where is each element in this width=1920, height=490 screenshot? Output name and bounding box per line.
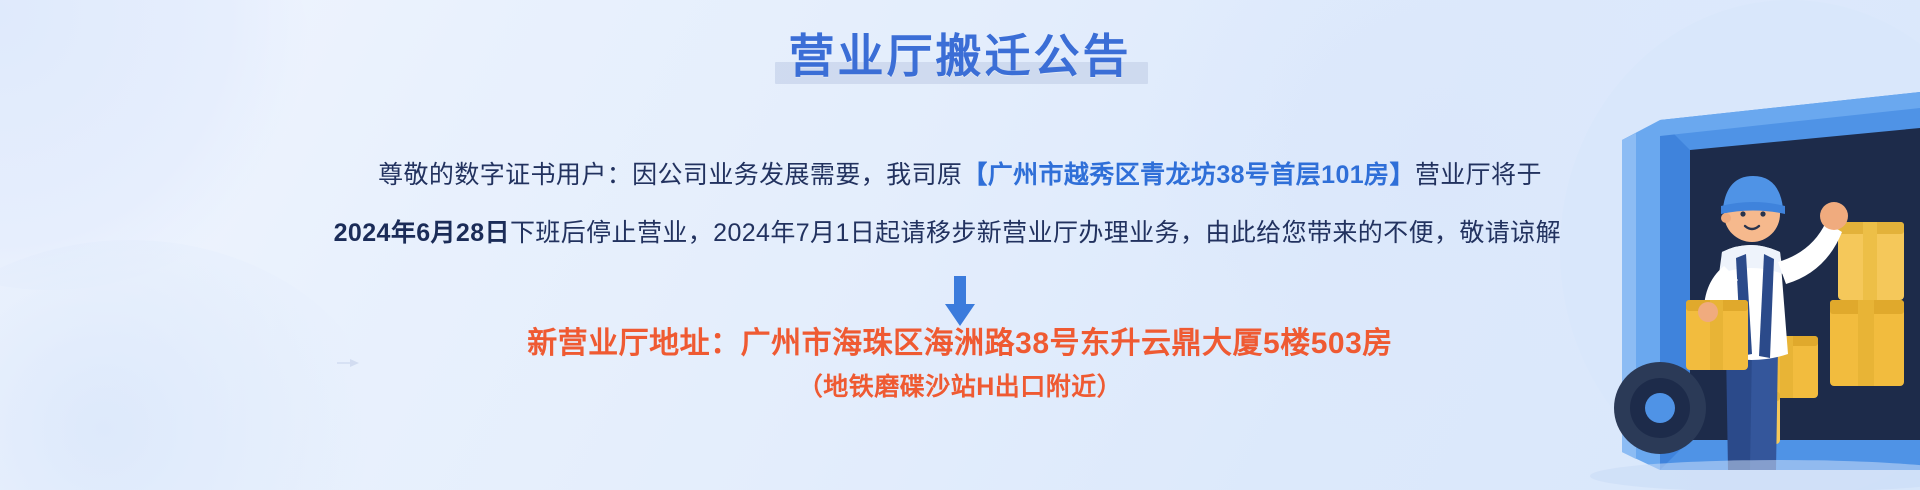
title-area: 营业厅搬迁公告 — [0, 26, 1920, 86]
notice-line-1: 尊敬的数字证书用户：因公司业务发展需要，我司原【广州市越秀区青龙坊38号首层10… — [0, 150, 1920, 200]
closing-date: 2024年6月28日 — [334, 219, 510, 247]
notice-line-1-before: 尊敬的数字证书用户：因公司业务发展需要，我司原 — [378, 161, 962, 189]
old-address-highlight: 【广州市越秀区青龙坊38号首层101房】 — [962, 161, 1415, 189]
notice-body: 尊敬的数字证书用户：因公司业务发展需要，我司原【广州市越秀区青龙坊38号首层10… — [0, 150, 1920, 258]
relocation-notice-banner: 营业厅搬迁公告 尊敬的数字证书用户：因公司业务发展需要，我司原【广州市越秀区青龙… — [0, 0, 1920, 490]
page-title: 营业厅搬迁公告 — [789, 26, 1132, 86]
new-address-block: 新营业厅地址：广州市海珠区海洲路38号东升云鼎大厦5楼503房 （地铁磨碟沙站H… — [0, 322, 1920, 408]
notice-line-2-rest: 下班后停止营业，2024年7月1日起请移步新营业厅办理业务，由此给您带来的不便，… — [510, 219, 1586, 247]
notice-line-2: 2024年6月28日下班后停止营业，2024年7月1日起请移步新营业厅办理业务，… — [0, 208, 1920, 258]
notice-line-1-after: 营业厅将于 — [1415, 161, 1542, 189]
new-address-main: 新营业厅地址：广州市海珠区海洲路38号东升云鼎大厦5楼503房 — [0, 322, 1920, 366]
down-arrow-icon — [940, 276, 980, 328]
title-block: 营业厅搬迁公告 — [783, 26, 1138, 86]
new-address-sub: （地铁磨碟沙站H出口附近） — [0, 366, 1920, 408]
